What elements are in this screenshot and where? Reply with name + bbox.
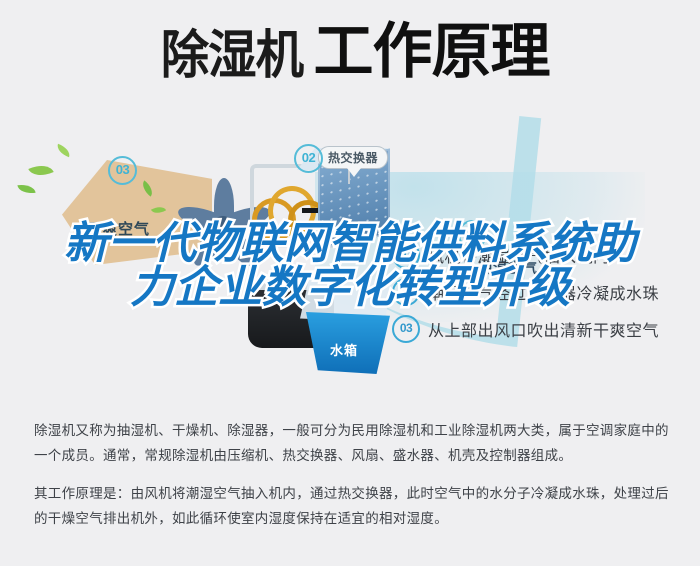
page-title: 除湿机工作原理 bbox=[0, 22, 700, 82]
leaf-icon bbox=[55, 144, 72, 158]
heat-exchanger-callout: 热交换器 bbox=[318, 146, 388, 169]
page-title-part2: 工作原理 bbox=[314, 22, 550, 82]
water-tank-label: 水箱 bbox=[330, 340, 358, 359]
legend-badge-03: 03 bbox=[392, 315, 420, 343]
legend-item: 03 从上部出风口吹出清新干爽空气 bbox=[392, 310, 692, 347]
poster-root: 除湿机工作原理 干爽空气 bbox=[0, 0, 700, 566]
diagram-badge-02: 02 bbox=[294, 144, 323, 173]
promo-headline: 新一代物联网智能供料系统助力企业数字化转型升级 bbox=[60, 222, 640, 310]
diagram-badge-03: 03 bbox=[108, 156, 137, 185]
article-body: 除湿机又称为抽湿机、干燥机、除湿器，一般可分为民用除湿机和工业除湿机两大类，属于… bbox=[34, 418, 670, 544]
legend-text-03: 从上部出风口吹出清新干爽空气 bbox=[428, 317, 659, 341]
leaf-icon bbox=[17, 183, 35, 195]
page-title-part1: 除湿机 bbox=[161, 30, 303, 82]
leaf-icon bbox=[28, 160, 53, 181]
article-paragraph-1: 除湿机又称为抽湿机、干燥机、除湿器，一般可分为民用除湿机和工业除湿机两大类，属于… bbox=[34, 418, 670, 468]
article-paragraph-2: 其工作原理是：由风机将潮湿空气抽入机内，通过热交换器，此时空气中的水分子冷凝成水… bbox=[34, 481, 670, 531]
